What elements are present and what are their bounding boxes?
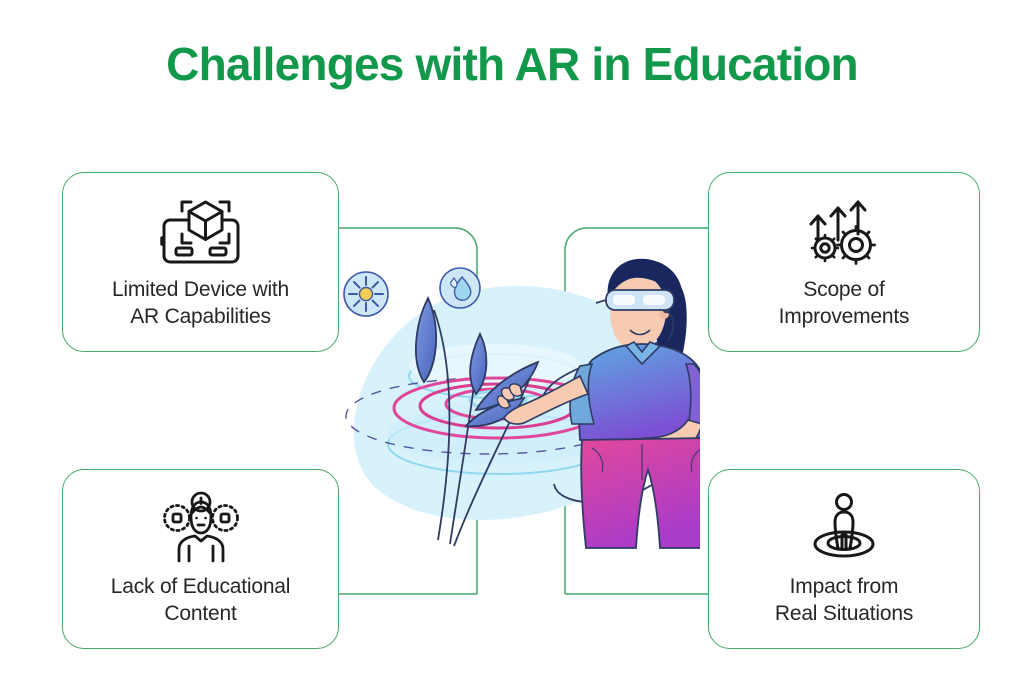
infographic-canvas: Challenges with AR in Education — [0, 0, 1024, 675]
card-label: Impact from Real Situations — [765, 573, 923, 627]
card-label: Lack of Educational Content — [101, 573, 301, 627]
ar-tablet-cube-icon — [149, 194, 253, 270]
card-label: Limited Device with AR Capabilities — [102, 276, 299, 330]
card-impact-real[interactable]: Impact from Real Situations — [708, 469, 980, 649]
person-alert-content-icon — [149, 491, 253, 567]
central-illustration — [330, 248, 700, 558]
water-drop-badge-icon — [440, 268, 480, 308]
person-on-rings-icon — [792, 491, 896, 567]
card-lack-content[interactable]: Lack of Educational Content — [62, 469, 339, 649]
sun-badge-icon — [344, 272, 388, 316]
card-scope-improvements[interactable]: Scope of Improvements — [708, 172, 980, 352]
card-label: Scope of Improvements — [769, 276, 920, 330]
ar-goggles — [596, 290, 674, 310]
arrows-gears-icon — [792, 194, 896, 270]
card-limited-device[interactable]: Limited Device with AR Capabilities — [62, 172, 339, 352]
